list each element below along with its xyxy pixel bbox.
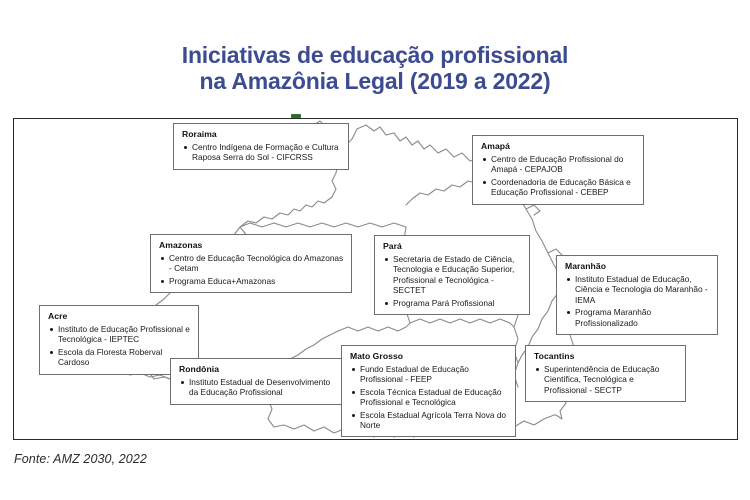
state-box-rondonia[interactable]: Rondônia Instituto Estadual de Desenvolv…	[170, 358, 348, 405]
initiative-list-amazonas: Centro de Educação Tecnológica do Amazon…	[159, 253, 344, 286]
initiative-list-mato-grosso: Fundo Estadual de Educação Profissional …	[350, 364, 508, 430]
initiative-list-rondonia: Instituto Estadual de Desenvolvimento da…	[179, 377, 340, 398]
list-item: Programa Educa+Amazonas	[159, 276, 344, 286]
initiative-list-amapa: Centro de Educação Profissional do Amapá…	[481, 154, 636, 198]
source-note: Fonte: AMZ 2030, 2022	[14, 452, 147, 466]
list-item: Superintendência de Educação Científica,…	[534, 364, 678, 395]
state-name-acre: Acre	[48, 311, 191, 322]
list-item: Secretaria de Estado de Ciência, Tecnolo…	[383, 254, 522, 296]
list-item: Instituto Estadual de Educação, Ciência …	[565, 274, 710, 305]
initiative-list-maranhao: Instituto Estadual de Educação, Ciência …	[565, 274, 710, 328]
state-box-mato-grosso[interactable]: Mato Grosso Fundo Estadual de Educação P…	[341, 345, 516, 437]
state-name-rondonia: Rondônia	[179, 364, 340, 375]
list-item: Escola Técnica Estadual de Educação Prof…	[350, 387, 508, 408]
list-item: Instituto de Educação Profissional e Tec…	[48, 324, 191, 345]
list-item: Coordenadoria de Educação Básica e Educa…	[481, 177, 636, 198]
initiative-list-tocantins: Superintendência de Educação Científica,…	[534, 364, 678, 395]
infographic-page: Iniciativas de educação profissional na …	[0, 0, 750, 500]
list-item: Escola Estadual Agrícola Terra Nova do N…	[350, 410, 508, 431]
state-box-amapa[interactable]: Amapá Centro de Educação Profissional do…	[472, 135, 644, 205]
page-title-line-1: Iniciativas de educação profissional	[0, 42, 750, 68]
list-item: Instituto Estadual de Desenvolvimento da…	[179, 377, 340, 398]
list-item: Centro Indígena de Formação e Cultura Ra…	[182, 142, 341, 163]
state-name-tocantins: Tocantins	[534, 351, 678, 362]
initiative-list-roraima: Centro Indígena de Formação e Cultura Ra…	[182, 142, 341, 163]
decorative-green-mark	[291, 114, 301, 118]
state-name-mato-grosso: Mato Grosso	[350, 351, 508, 362]
state-box-para[interactable]: Pará Secretaria de Estado de Ciência, Te…	[374, 235, 530, 315]
state-box-amazonas[interactable]: Amazonas Centro de Educação Tecnológica …	[150, 234, 352, 293]
list-item: Programa Pará Profissional	[383, 298, 522, 308]
initiative-list-para: Secretaria de Estado de Ciência, Tecnolo…	[383, 254, 522, 308]
list-item: Centro de Educação Profissional do Amapá…	[481, 154, 636, 175]
state-name-maranhao: Maranhão	[565, 261, 710, 272]
state-name-roraima: Roraima	[182, 129, 341, 140]
state-name-amazonas: Amazonas	[159, 240, 344, 251]
map-figure-frame: Roraima Centro Indígena de Formação e Cu…	[13, 118, 738, 440]
page-title-line-2: na Amazônia Legal (2019 a 2022)	[0, 68, 750, 94]
state-box-roraima[interactable]: Roraima Centro Indígena de Formação e Cu…	[173, 123, 349, 170]
list-item: Centro de Educação Tecnológica do Amazon…	[159, 253, 344, 274]
state-name-amapa: Amapá	[481, 141, 636, 152]
state-box-maranhao[interactable]: Maranhão Instituto Estadual de Educação,…	[556, 255, 718, 335]
list-item: Fundo Estadual de Educação Profissional …	[350, 364, 508, 385]
state-box-tocantins[interactable]: Tocantins Superintendência de Educação C…	[525, 345, 686, 402]
page-title: Iniciativas de educação profissional na …	[0, 42, 750, 94]
state-name-para: Pará	[383, 241, 522, 252]
list-item: Programa Maranhão Profissionalizado	[565, 307, 710, 328]
